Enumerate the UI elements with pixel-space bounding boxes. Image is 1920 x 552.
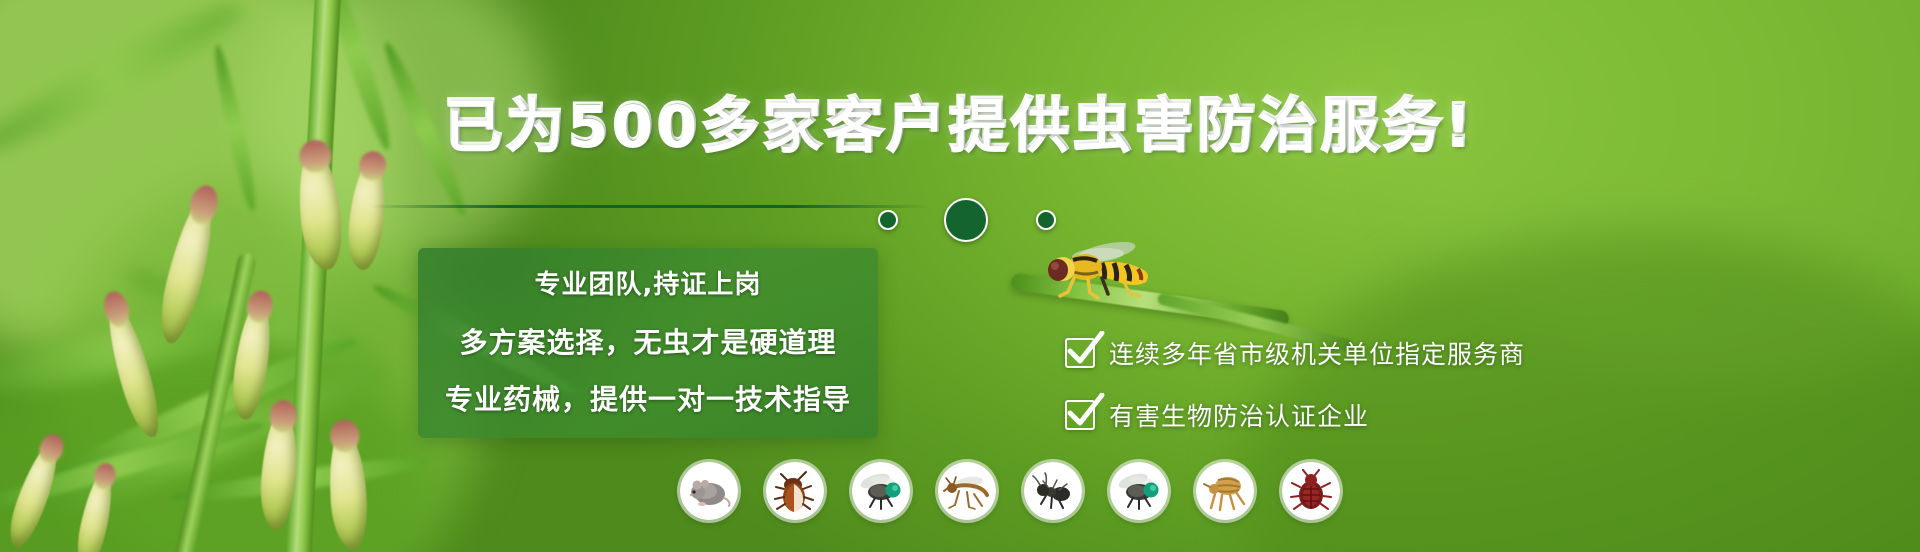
pest-control-banner: 已为500多家客户提供虫害防治服务! 专业团队,持证上岗 多方案选择，无虫才是硬… xyxy=(0,0,1920,552)
info-panel: 专业团队,持证上岗 多方案选择，无虫才是硬道理 专业药械，提供一对一技术指导 xyxy=(418,248,878,438)
dot-small-right xyxy=(1036,210,1056,230)
flea-icon[interactable] xyxy=(1196,462,1254,520)
headline-text: 已为500多家客户提供虫害防治服务! xyxy=(444,91,1476,159)
page-title: 已为500多家客户提供虫害防治服务! xyxy=(0,78,1920,162)
checkmark-icon xyxy=(1065,338,1095,368)
checklist-item: 连续多年省市级机关单位指定服务商 xyxy=(1065,335,1525,371)
bedbug-icon[interactable] xyxy=(1282,462,1340,520)
decorative-dots xyxy=(860,196,1080,244)
dot-small-left xyxy=(878,210,898,230)
cockroach-icon[interactable] xyxy=(766,462,824,520)
divider xyxy=(370,205,930,208)
checklist: 连续多年省市级机关单位指定服务商 有害生物防治认证企业 xyxy=(1065,335,1525,459)
checklist-item-label: 有害生物防治认证企业 xyxy=(1109,397,1369,433)
mosquito-icon[interactable] xyxy=(938,462,996,520)
fly-icon[interactable] xyxy=(852,462,910,520)
ant-icon[interactable] xyxy=(1024,462,1082,520)
checkmark-icon xyxy=(1065,400,1095,430)
mouse-icon[interactable] xyxy=(680,462,738,520)
info-panel-line-3: 专业药械，提供一对一技术指导 xyxy=(445,378,851,418)
blowfly-icon[interactable] xyxy=(1110,462,1168,520)
dot-large-center xyxy=(944,198,988,242)
hoverfly-icon xyxy=(1040,238,1160,300)
pest-icon-strip xyxy=(680,462,1340,520)
checklist-item: 有害生物防治认证企业 xyxy=(1065,397,1525,433)
info-panel-line-1: 专业团队,持证上岗 xyxy=(535,264,762,301)
info-panel-line-2: 多方案选择，无虫才是硬道理 xyxy=(459,321,836,361)
checklist-item-label: 连续多年省市级机关单位指定服务商 xyxy=(1109,335,1525,371)
